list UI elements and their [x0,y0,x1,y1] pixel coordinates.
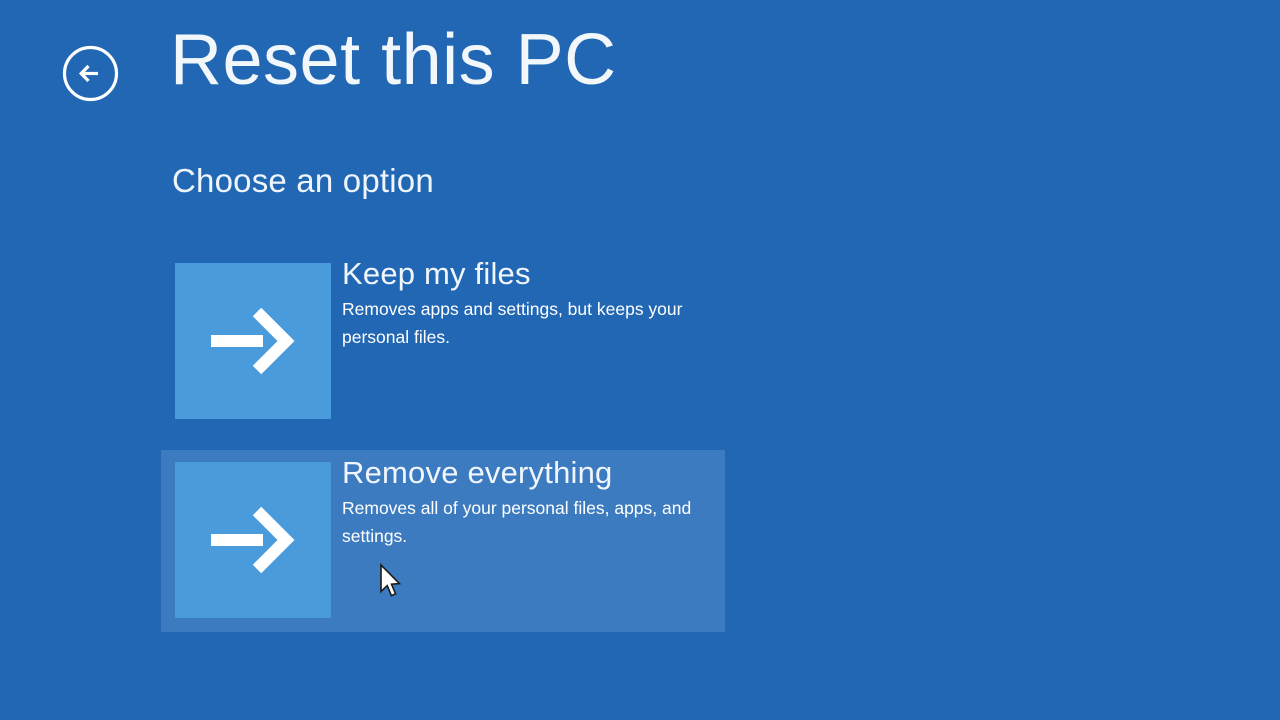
option-title: Remove everything [342,456,712,489]
option-keep-my-files[interactable]: Keep my files Removes apps and settings,… [161,255,725,427]
option-text-block: Keep my files Removes apps and settings,… [342,255,712,351]
option-title: Keep my files [342,257,712,290]
header: Reset this PC [0,0,1280,140]
option-icon-tile [175,263,331,419]
back-arrow-circle-icon [62,45,119,102]
option-description: Removes all of your personal files, apps… [342,495,712,549]
reset-this-pc-screen: Reset this PC Choose an option Keep my f… [0,0,1280,720]
option-text-block: Remove everything Removes all of your pe… [342,450,712,550]
option-description: Removes apps and settings, but keeps you… [342,296,712,350]
option-remove-everything[interactable]: Remove everything Removes all of your pe… [161,450,725,632]
choose-an-option-heading: Choose an option [172,164,434,197]
option-icon-tile [175,462,331,618]
arrow-right-icon [207,505,299,575]
page-title: Reset this PC [170,24,617,96]
back-button[interactable] [62,45,119,102]
arrow-right-icon [207,306,299,376]
